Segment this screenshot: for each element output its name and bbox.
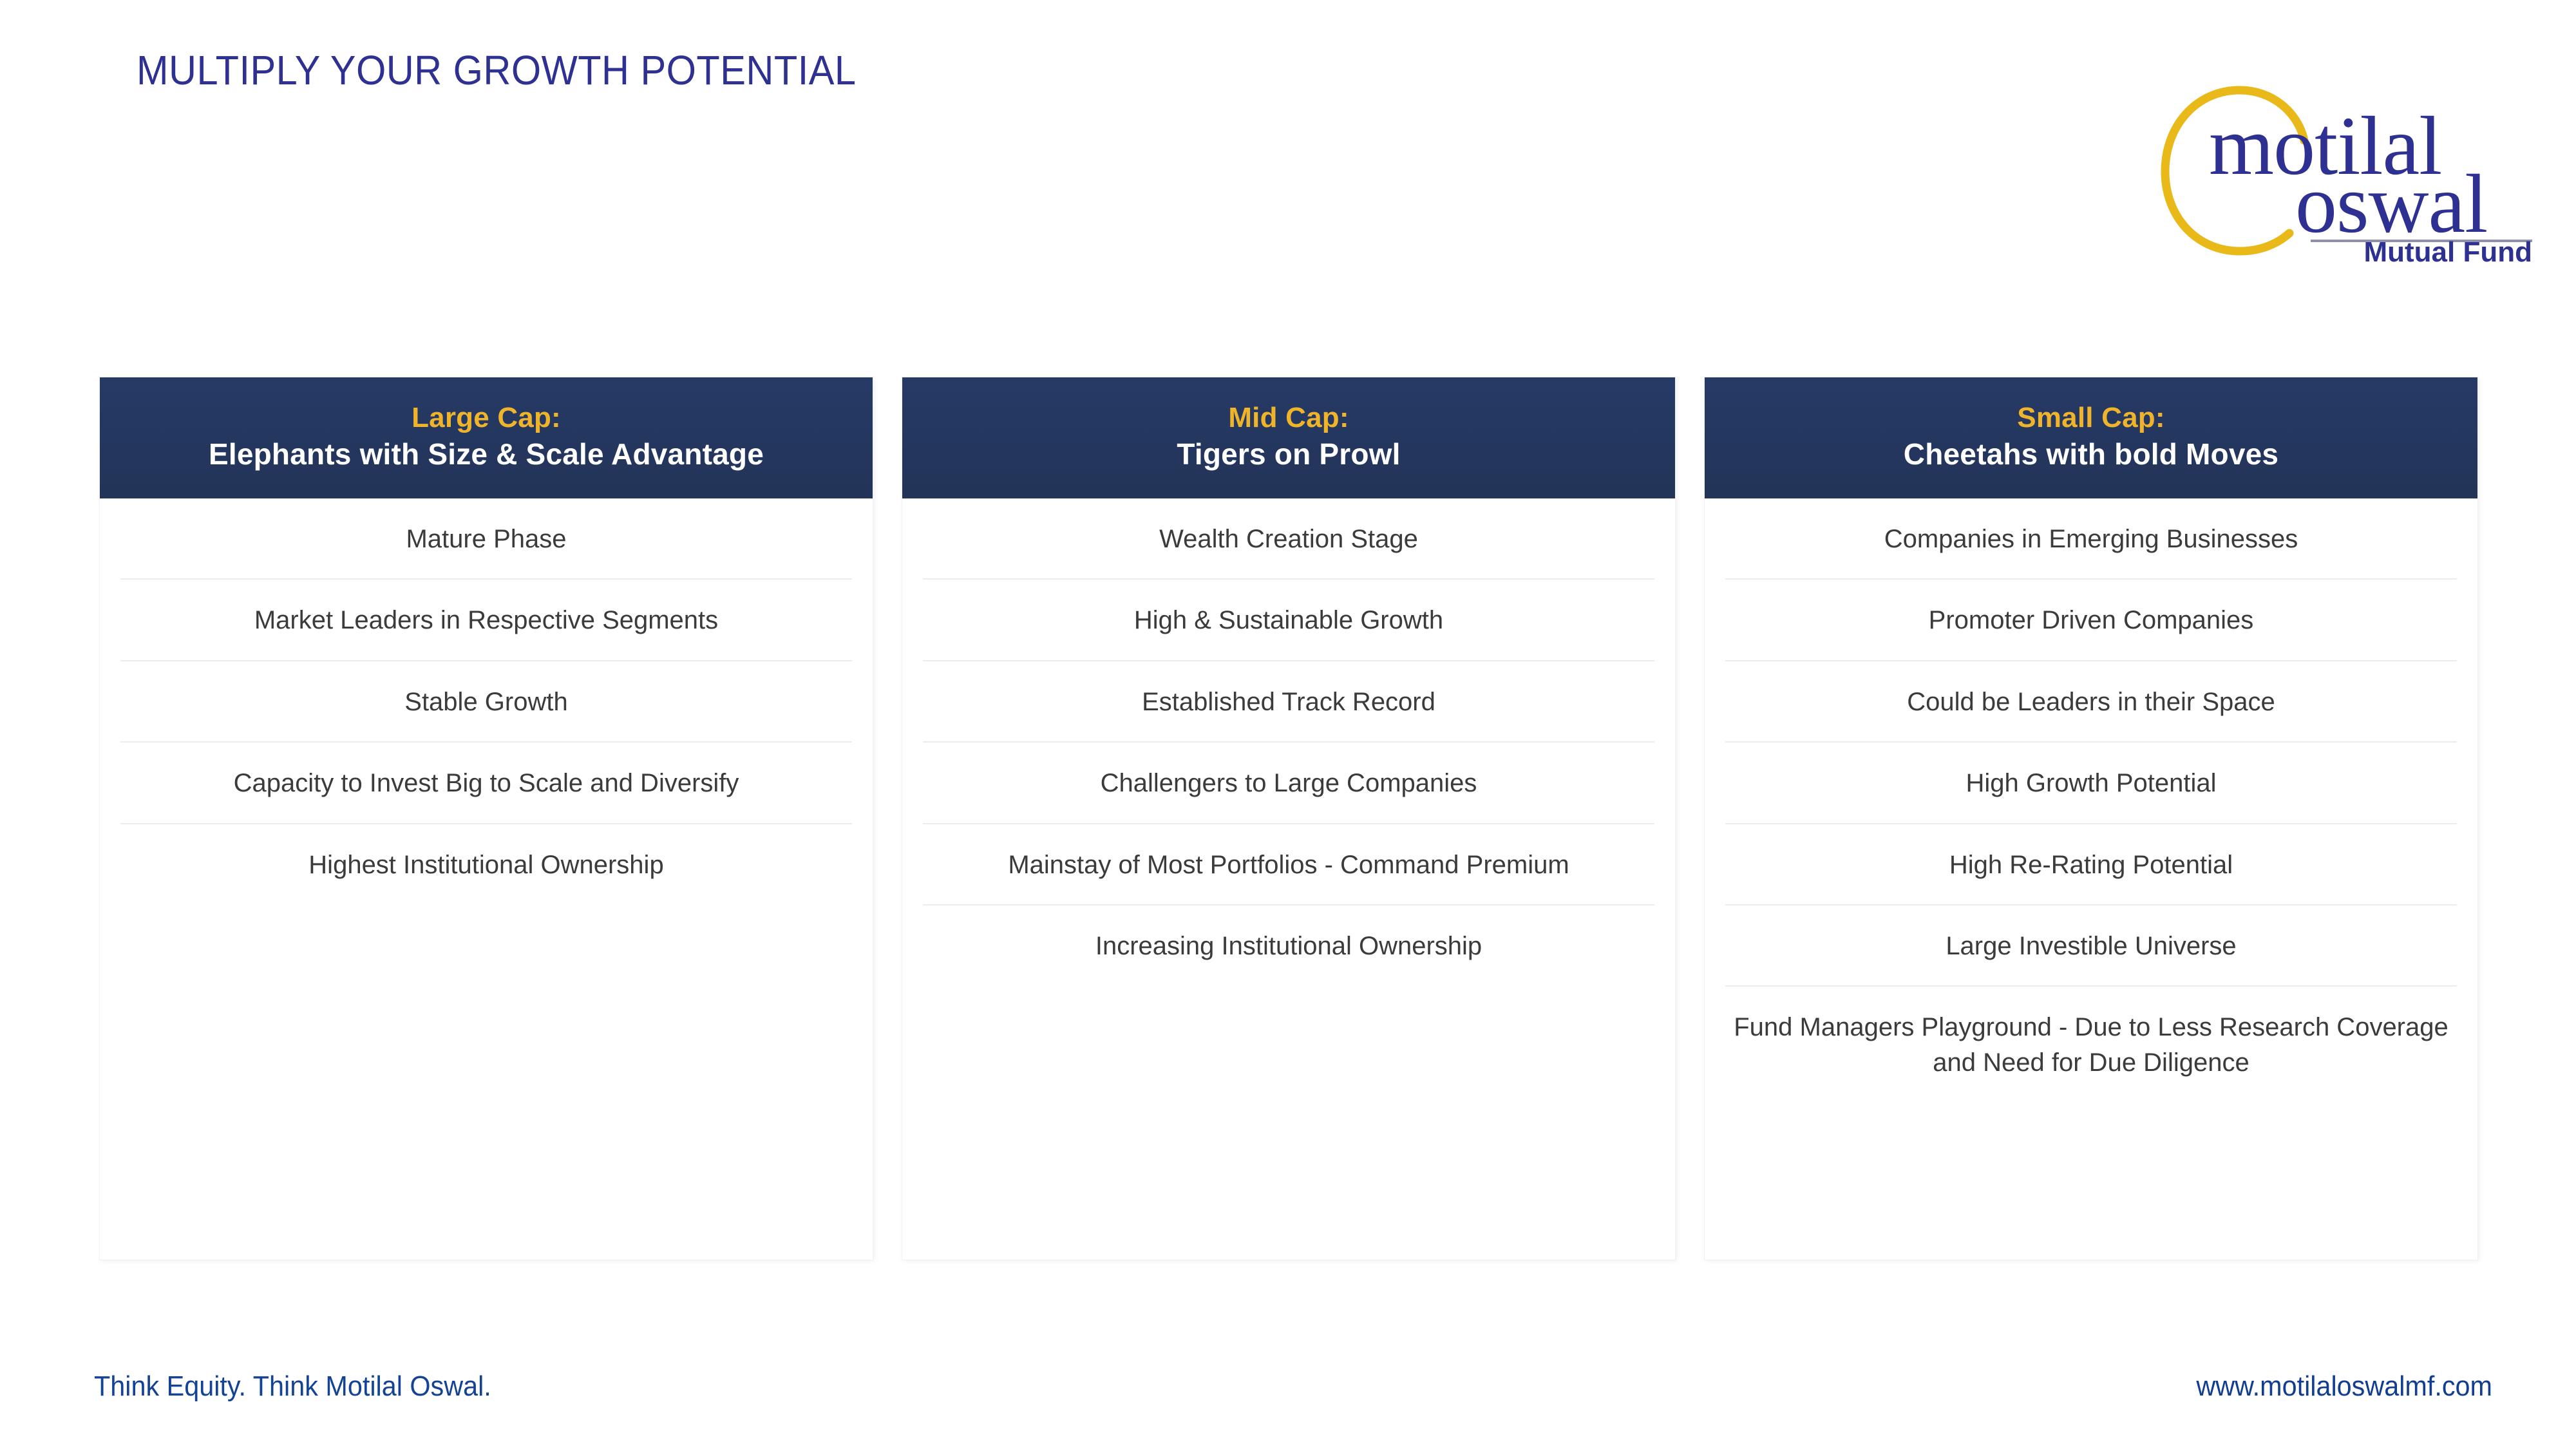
cap-tagline: Cheetahs with bold Moves bbox=[1718, 438, 2465, 471]
list-item: Wealth Creation Stage bbox=[923, 498, 1654, 580]
card-header-large: Large Cap: Elephants with Size & Scale A… bbox=[100, 377, 873, 498]
list-item: Stable Growth bbox=[120, 661, 852, 743]
list-item: Capacity to Invest Big to Scale and Dive… bbox=[120, 743, 852, 824]
card-header-small: Small Cap: Cheetahs with bold Moves bbox=[1705, 377, 2477, 498]
list-item: Challengers to Large Companies bbox=[923, 743, 1654, 824]
list-item: Promoter Driven Companies bbox=[1725, 580, 2457, 661]
list-item: Market Leaders in Respective Segments bbox=[120, 580, 852, 661]
cap-tagline: Elephants with Size & Scale Advantage bbox=[113, 438, 860, 471]
cap-label: Small Cap: bbox=[1718, 402, 2465, 433]
footer-website-link[interactable]: www.motilaloswalmf.com bbox=[2196, 1370, 2492, 1403]
card-body-mid: Wealth Creation Stage High & Sustainable… bbox=[902, 498, 1675, 1260]
list-item: Large Investible Universe bbox=[1725, 905, 2457, 987]
cap-card-large: Large Cap: Elephants with Size & Scale A… bbox=[100, 377, 873, 1260]
list-item: Mature Phase bbox=[120, 498, 852, 580]
list-item: Mainstay of Most Portfolios - Command Pr… bbox=[923, 824, 1654, 905]
page-title: MULTIPLY YOUR GROWTH POTENTIAL bbox=[137, 46, 856, 94]
cap-card-small: Small Cap: Cheetahs with bold Moves Comp… bbox=[1705, 377, 2477, 1260]
cap-cards-row: Large Cap: Elephants with Size & Scale A… bbox=[100, 377, 2477, 1260]
list-item: Increasing Institutional Ownership bbox=[923, 905, 1654, 985]
cap-label: Mid Cap: bbox=[915, 402, 1662, 433]
card-body-large: Mature Phase Market Leaders in Respectiv… bbox=[100, 498, 873, 1260]
list-item: Fund Managers Playground - Due to Less R… bbox=[1725, 987, 2457, 1102]
list-item: Established Track Record bbox=[923, 661, 1654, 743]
list-item: High Growth Potential bbox=[1725, 743, 2457, 824]
cap-card-mid: Mid Cap: Tigers on Prowl Wealth Creation… bbox=[902, 377, 1675, 1260]
svg-text:Mutual Fund: Mutual Fund bbox=[2364, 236, 2533, 263]
footer-tagline: Think Equity. Think Motilal Oswal. bbox=[94, 1370, 491, 1403]
list-item: Companies in Emerging Businesses bbox=[1725, 498, 2457, 580]
brand-logo: motilal oswal Mutual Fund bbox=[2146, 76, 2545, 263]
card-body-small: Companies in Emerging Businesses Promote… bbox=[1705, 498, 2477, 1260]
cap-tagline: Tigers on Prowl bbox=[915, 438, 1662, 471]
card-header-mid: Mid Cap: Tigers on Prowl bbox=[902, 377, 1675, 498]
list-item: Highest Institutional Ownership bbox=[120, 824, 852, 904]
list-item: High Re-Rating Potential bbox=[1725, 824, 2457, 905]
cap-label: Large Cap: bbox=[113, 402, 860, 433]
list-item: High & Sustainable Growth bbox=[923, 580, 1654, 661]
list-item: Could be Leaders in their Space bbox=[1725, 661, 2457, 743]
